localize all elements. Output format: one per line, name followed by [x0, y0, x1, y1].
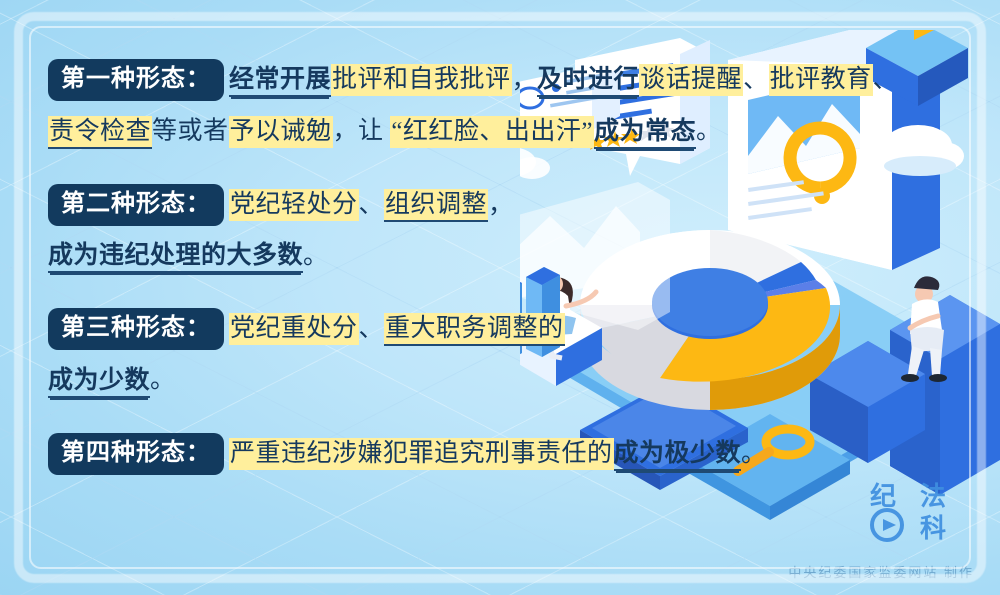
logo-char-1: 纪 — [870, 481, 896, 511]
p1-seg-1: 经常开展 — [229, 66, 331, 97]
paragraph-4-line-1: 第四种形态：严重违纪涉嫌犯罪追究刑事责任的成为极少数。 — [48, 430, 928, 477]
p1-seg-8: 、 — [873, 66, 899, 93]
p1-seg-4: 及时进行 — [537, 66, 639, 97]
paragraph-1: 第一种形态：经常开展批评和自我批评，及时进行谈话提醒、批评教育、 责令检查等或者… — [48, 56, 928, 155]
form-badge-1: 第一种形态： — [48, 59, 224, 101]
p3b-seg-2: 。 — [150, 367, 176, 394]
p4-seg-2: 成为极少数 — [614, 440, 742, 471]
paragraph-3-line-1: 第三种形态：党纪重处分、重大职务调整的 — [48, 305, 928, 352]
poster-canvas: 第一种形态：经常开展批评和自我批评，及时进行谈话提醒、批评教育、 责令检查等或者… — [0, 0, 1000, 595]
p4-seg-1: 严重违纪涉嫌犯罪追究刑事责任的 — [229, 438, 614, 470]
p2b-seg-1: 成为违纪处理的大多数 — [48, 242, 303, 273]
paragraph-1-line-1: 第一种形态：经常开展批评和自我批评，及时进行谈话提醒、批评教育、 — [48, 56, 928, 103]
brand-logo: 纪 法 科 — [868, 479, 976, 543]
p2-seg-3: 组织调整 — [384, 189, 488, 222]
p2-seg-2: 、 — [359, 191, 385, 218]
play-circle-icon — [872, 510, 902, 540]
p1-seg-3: ， — [512, 66, 538, 93]
paragraph-2-line-1: 第二种形态：党纪轻处分、组织调整， — [48, 181, 928, 228]
p3-seg-1: 党纪重处分 — [229, 313, 359, 345]
p1b-seg-5: “红红脸、出出汗” — [390, 116, 594, 148]
p1b-seg-7: 。 — [696, 118, 722, 145]
p2-seg-1: 党纪轻处分 — [229, 189, 359, 221]
p1-seg-6: 、 — [743, 66, 769, 93]
paragraph-3-line-2: 成为少数。 — [48, 356, 928, 403]
logo-char-2: 法 — [920, 482, 946, 511]
p1-seg-7: 批评教育 — [769, 64, 873, 96]
p1-seg-2: 批评和自我批评 — [331, 64, 512, 96]
form-badge-2: 第二种形态： — [48, 184, 224, 226]
p4-seg-3: 。 — [741, 440, 767, 467]
logo-char-3: 科 — [920, 514, 946, 543]
p1b-seg-1: 责令检查 — [48, 116, 152, 149]
p2b-seg-2: 。 — [303, 242, 329, 269]
p1b-seg-3: 予以诫勉 — [229, 116, 333, 148]
p1b-seg-4: ，让 — [333, 118, 391, 145]
p3-seg-3: 重大职务调整的 — [384, 313, 565, 346]
p1-seg-5: 谈话提醒 — [639, 64, 743, 96]
credit-text: 中央纪委国家监委网站 制作 — [788, 562, 974, 581]
form-badge-3: 第三种形态： — [48, 308, 224, 350]
paragraph-1-line-2: 责令检查等或者予以诫勉，让 “红红脸、出出汗”成为常态。 — [48, 107, 928, 154]
paragraph-2-line-2: 成为违纪处理的大多数。 — [48, 232, 928, 279]
text-content: 第一种形态：经常开展批评和自我批评，及时进行谈话提醒、批评教育、 责令检查等或者… — [48, 56, 928, 477]
p3-seg-2: 、 — [359, 315, 385, 342]
p3b-seg-1: 成为少数 — [48, 367, 150, 398]
p2-seg-4: ， — [488, 191, 514, 218]
form-badge-4: 第四种形态： — [48, 433, 224, 475]
p1b-seg-2: 等或者 — [152, 118, 229, 145]
paragraph-3: 第三种形态：党纪重处分、重大职务调整的 成为少数。 — [48, 305, 928, 404]
paragraph-4: 第四种形态：严重违纪涉嫌犯罪追究刑事责任的成为极少数。 — [48, 430, 928, 477]
p1b-seg-6: 成为常态 — [594, 118, 696, 149]
paragraph-2: 第二种形态：党纪轻处分、组织调整， 成为违纪处理的大多数。 — [48, 181, 928, 280]
